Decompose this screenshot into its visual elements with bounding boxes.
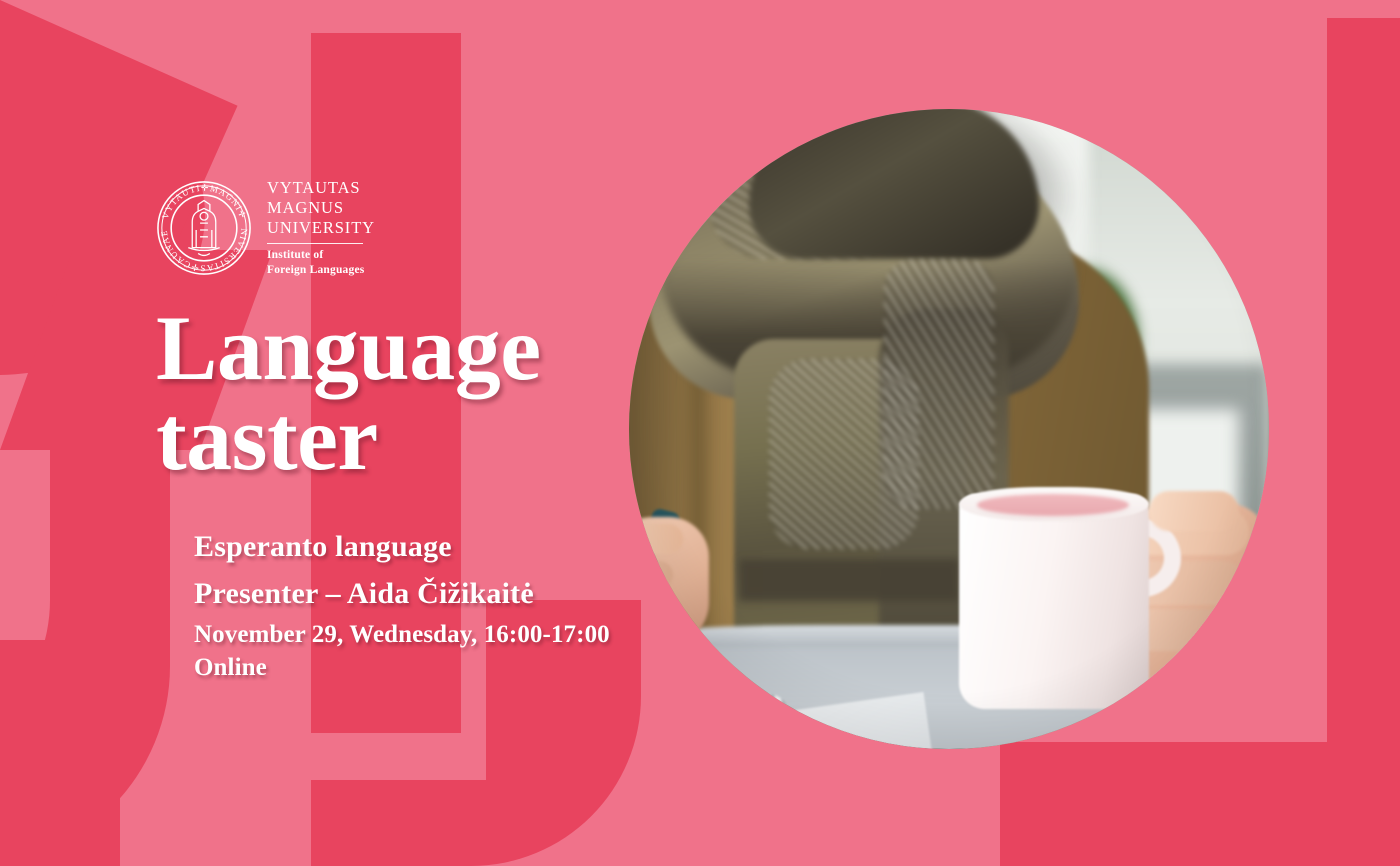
event-photo [629, 109, 1269, 749]
event-presenter: Presenter – Aida Čižikaitė [194, 571, 610, 618]
event-poster: VYTAUTI✛MAGNI✛ UNIVERSITAS✛CAUNAE✛ VYTAU… [0, 0, 1400, 866]
letterform-right-corner-shape [1000, 742, 1400, 866]
event-details: Esperanto language Presenter – Aida Čiži… [194, 524, 610, 684]
letterform-right-bar-shape [1327, 18, 1400, 658]
logo-name-line-3: UNIVERSITY [267, 218, 375, 238]
svg-text:VYTAUTI✛MAGNI✛: VYTAUTI✛MAGNI✛ [160, 183, 248, 221]
photo-vignette [629, 109, 1269, 749]
letterform-right-corner-lower-shape [1327, 658, 1400, 748]
poster-headline: Language taster [156, 303, 541, 483]
event-datetime: November 29, Wednesday, 16:00-17:00 [194, 618, 610, 651]
logo-sub-line-2: Foreign Languages [267, 263, 375, 278]
event-topic: Esperanto language [194, 524, 610, 571]
logo-name-line-2: MAGNUS [267, 198, 375, 218]
headline-line-1: Language [156, 303, 541, 393]
logo-divider [267, 243, 363, 244]
headline-line-2: taster [156, 393, 541, 483]
logo-sub-line-1: Institute of [267, 248, 375, 263]
university-logo: VYTAUTI✛MAGNI✛ UNIVERSITAS✛CAUNAE✛ VYTAU… [155, 178, 375, 278]
letterform-left-leg-shape [0, 640, 120, 866]
university-seal-icon: VYTAUTI✛MAGNI✛ UNIVERSITAS✛CAUNAE✛ [155, 179, 253, 277]
event-format: Online [194, 651, 610, 684]
logo-name-line-1: VYTAUTAS [267, 178, 375, 198]
